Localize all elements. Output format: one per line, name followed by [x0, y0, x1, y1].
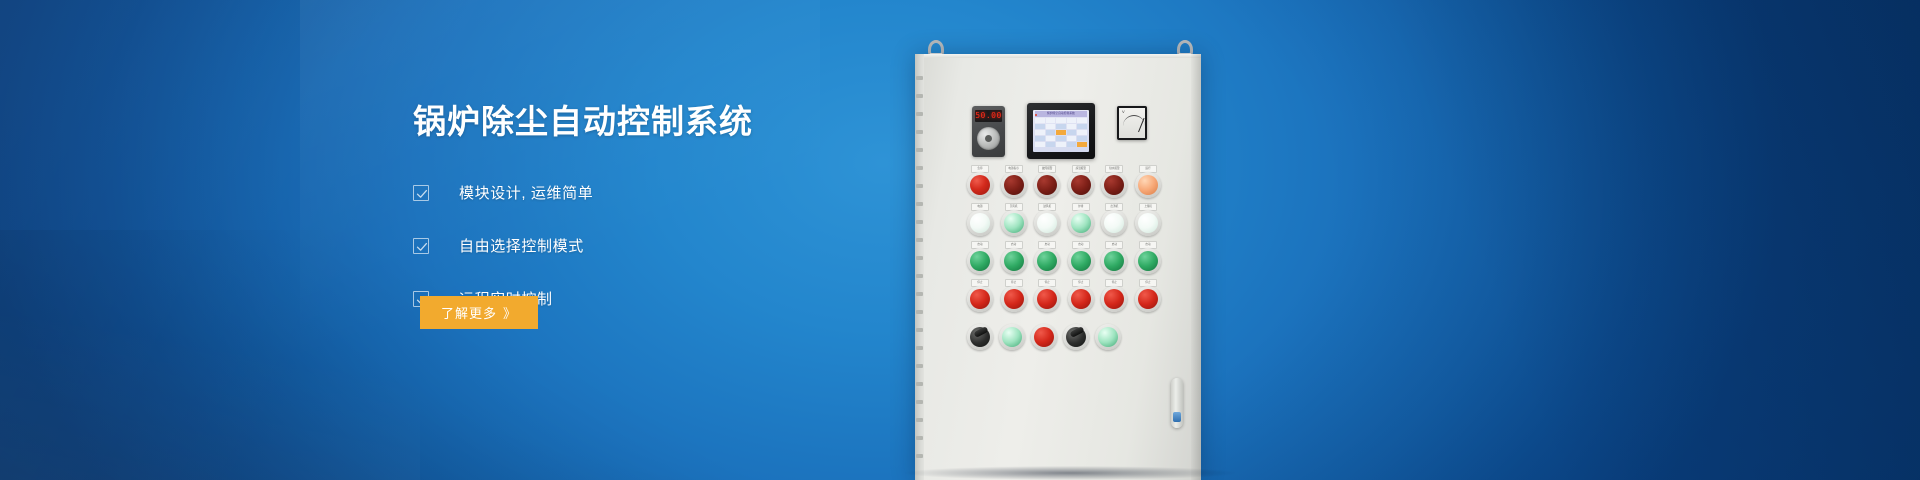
power-led-icon: [1035, 114, 1037, 116]
lamp-cap-icon: [1002, 327, 1022, 347]
indicator-lamp[interactable]: 电源: [969, 212, 991, 234]
cabinet-top-edge: [915, 54, 1201, 58]
start-cap-icon: [970, 251, 990, 271]
vfd-dial-knob[interactable]: [977, 127, 1000, 150]
lamp-cap-icon: [1071, 213, 1091, 233]
indicator-lamp[interactable]: [1097, 326, 1119, 348]
button-row: 急停 电源指示 故障报警 超温报警: [969, 174, 1159, 196]
banner-copy: 锅炉除尘自动控制系统 模块设计, 运维简单 自由选择控制模式: [413, 104, 933, 315]
selector-cap-icon: [970, 327, 990, 347]
feature-list: 模块设计, 运维简单 自由选择控制模式 远程实时控制: [413, 176, 933, 315]
lamp-cap-icon: [1071, 175, 1091, 195]
lamp-cap-icon: [1034, 327, 1054, 347]
start-button[interactable]: 启动: [1003, 250, 1025, 272]
vfd-display-value: 50.00: [975, 112, 1002, 120]
checkbox-check-icon: [413, 238, 429, 254]
lamp-cap-icon: [1138, 175, 1158, 195]
stop-button[interactable]: 停止: [1036, 288, 1058, 310]
hmi-data-grid: [1033, 118, 1089, 147]
emergency-stop-button[interactable]: 急停: [969, 174, 991, 196]
checkbox-check-icon: [413, 185, 429, 201]
stop-button[interactable]: 停止: [1137, 288, 1159, 310]
selector-switch[interactable]: [969, 326, 991, 348]
start-button[interactable]: 启动: [969, 250, 991, 272]
lamp-cap-icon: [1004, 175, 1024, 195]
stop-cap-icon: [1138, 289, 1158, 309]
chevron-right-double-icon: 》: [503, 303, 517, 322]
start-button[interactable]: 启动: [1103, 250, 1125, 272]
start-cap-icon: [1071, 251, 1091, 271]
indicator-lamp[interactable]: 上煤机: [1137, 212, 1159, 234]
list-item: 模块设计, 运维简单: [413, 176, 933, 209]
button-row: 停止 停止 停止 停止: [969, 288, 1159, 310]
page-title: 锅炉除尘自动控制系统: [413, 104, 933, 140]
hmi-touchscreen[interactable]: 锅炉除尘自动控制系统: [1027, 103, 1095, 159]
start-button[interactable]: 启动: [1036, 250, 1058, 272]
indicator-lamp[interactable]: 出渣机: [1103, 212, 1125, 234]
hmi-screen-title: 锅炉除尘自动控制系统: [1035, 111, 1087, 117]
lamp-cap-icon: [1098, 327, 1118, 347]
lamp-cap-icon: [1138, 213, 1158, 233]
lamp-cap-icon: [1004, 213, 1024, 233]
product-image: 50.00 锅炉除尘自动控制系统: [900, 0, 1240, 480]
stop-cap-icon: [1004, 289, 1024, 309]
start-cap-icon: [1004, 251, 1024, 271]
list-item-label: 模块设计, 运维简单: [459, 182, 593, 203]
stop-cap-icon: [1071, 289, 1091, 309]
indicator-lamp[interactable]: 运行: [1137, 174, 1159, 196]
stop-button[interactable]: 停止: [1070, 288, 1092, 310]
indicator-lamp[interactable]: 鼓风机: [1036, 212, 1058, 234]
vfd-keypad[interactable]: 50.00: [972, 106, 1005, 157]
learn-more-label: 了解更多: [441, 303, 497, 322]
stop-button[interactable]: 停止: [1003, 288, 1025, 310]
button-grid: 急停 电源指示 故障报警 超温报警: [969, 174, 1159, 364]
selector-cap-icon: [1066, 327, 1086, 347]
cabinet-right-edge: [1191, 54, 1201, 480]
control-cabinet: 50.00 锅炉除尘自动控制系统: [915, 54, 1201, 480]
indicator-lamp[interactable]: 故障报警: [1036, 174, 1058, 196]
cabinet-shadow: [905, 466, 1235, 480]
start-cap-icon: [1138, 251, 1158, 271]
list-gap: [413, 262, 933, 282]
indicator-lamp[interactable]: 超温报警: [1070, 174, 1092, 196]
analog-meter: V: [1117, 106, 1147, 140]
meter-unit-label: V: [1122, 110, 1125, 114]
hmi-screen[interactable]: 锅炉除尘自动控制系统: [1033, 110, 1089, 152]
list-item: 自由选择控制模式: [413, 229, 933, 262]
button-row: 电源 引风机 鼓风机 炉排: [969, 212, 1159, 234]
selector-switch[interactable]: [1065, 326, 1087, 348]
list-gap: [413, 209, 933, 229]
stop-button[interactable]: 停止: [969, 288, 991, 310]
indicator-lamp[interactable]: [1001, 326, 1023, 348]
meter-face: V: [1119, 108, 1145, 138]
stop-cap-icon: [970, 289, 990, 309]
button-row: [969, 326, 1119, 348]
learn-more-button[interactable]: 了解更多 》: [420, 296, 538, 329]
indicator-lamp[interactable]: 引风机: [1003, 212, 1025, 234]
estop-cap-icon: [970, 175, 990, 195]
lamp-cap-icon: [970, 213, 990, 233]
indicator-lamp[interactable]: 电源指示: [1003, 174, 1025, 196]
vfd-display: 50.00: [975, 110, 1002, 122]
hero-banner: 锅炉除尘自动控制系统 模块设计, 运维简单 自由选择控制模式: [0, 0, 1920, 480]
button-row: 启动 启动 启动 启动: [969, 250, 1159, 272]
list-item-label: 自由选择控制模式: [459, 235, 584, 256]
cabinet-hinge-strip: [915, 54, 924, 480]
indicator-lamp[interactable]: 缺水报警: [1103, 174, 1125, 196]
indicator-lamp[interactable]: [1033, 326, 1055, 348]
start-button[interactable]: 启动: [1070, 250, 1092, 272]
stop-button[interactable]: 停止: [1103, 288, 1125, 310]
indicator-lamp[interactable]: 炉排: [1070, 212, 1092, 234]
start-button[interactable]: 启动: [1137, 250, 1159, 272]
door-handle[interactable]: [1171, 378, 1183, 428]
